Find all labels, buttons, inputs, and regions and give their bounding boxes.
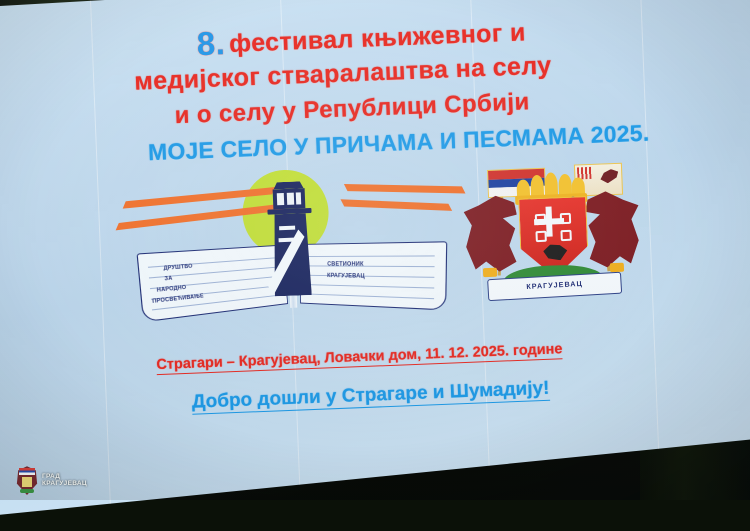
title-line-1-text: фестивал књижевног и: [229, 18, 527, 58]
watermark-line-2: КРАГУЈЕВАЦ: [42, 480, 87, 487]
welcome-text: Добро дошли у Страгаре и Шумадију!: [191, 378, 549, 415]
title-line-3: и о селу у Републици Србији: [174, 88, 530, 130]
watermark: ГРАД КРАГУЈЕВАЦ: [16, 462, 112, 498]
event-date-text: Страгари – Крагујевац, Ловачки дом, 11. …: [156, 341, 563, 375]
banner-text: КРАГУЈЕВАЦ: [488, 277, 620, 293]
welcome-line: Добро дошли у Страгаре и Шумадију!: [191, 378, 549, 414]
lamp-pane: [287, 193, 294, 205]
lighthouse-book-logo: ДРУШТВО ЗА НАРОДНО ПРОСВЕЋИВАЊЕ СВЕТИОНИ…: [123, 161, 459, 326]
book-left-text-2: ЗА: [164, 275, 173, 283]
eagle-claw-right: [610, 263, 624, 273]
lamp-pane: [277, 193, 284, 205]
lamp-pane: [296, 192, 301, 204]
festival-number: 8.: [196, 24, 226, 62]
lighthouse-lamp: [273, 188, 306, 209]
kragujevac-coat-of-arms: КРАГУЈЕВАЦ: [457, 158, 647, 305]
light-ray-icon: [340, 199, 452, 211]
book-right-text-1: СВЕТИОНИК: [327, 262, 364, 269]
shield-charge: [543, 244, 568, 261]
event-date-line: Страгари – Крагујевац, Ловачки дом, 11. …: [156, 341, 563, 373]
eagle-right-icon: [585, 190, 642, 268]
watermark-line-1: ГРАД: [42, 473, 87, 480]
eagle-claw-left: [483, 268, 497, 278]
book-right-text-2: КРАГУЈЕВАЦ: [327, 273, 365, 280]
city-crest-icon: [16, 465, 38, 495]
light-ray-icon: [344, 184, 466, 193]
eagle-left-icon: [462, 195, 519, 273]
slide-content: 8.фестивал књижевног и медијског стварал…: [0, 0, 750, 511]
lighthouse-icon: [253, 180, 329, 299]
watermark-text: ГРАД КРАГУЈЕВАЦ: [42, 473, 87, 488]
lighthouse-window: [279, 226, 295, 231]
emblem-row: ДРУШТВО ЗА НАРОДНО ПРОСВЕЋИВАЊЕ СВЕТИОНИ…: [0, 150, 750, 329]
